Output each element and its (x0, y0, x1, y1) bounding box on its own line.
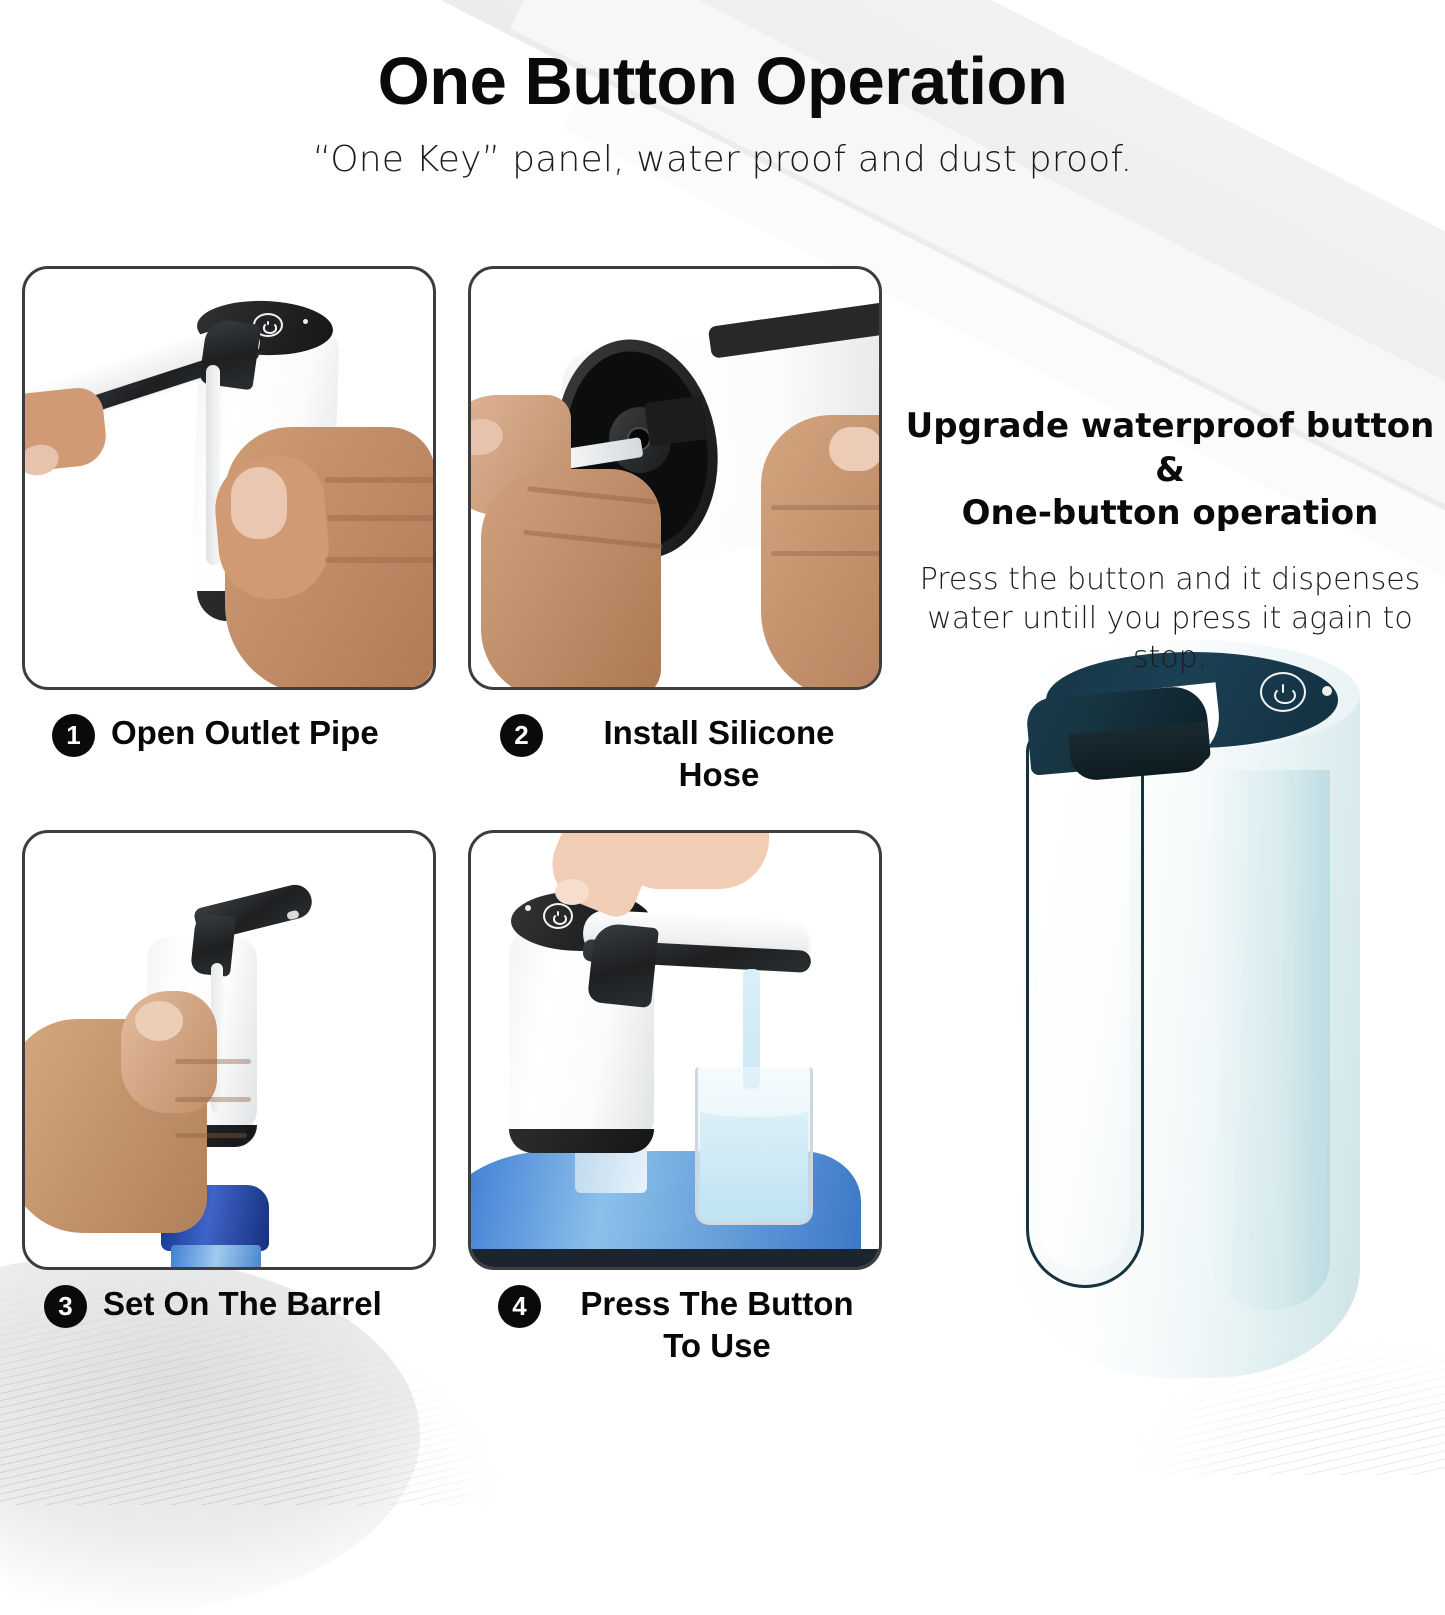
spout-nozzle-highlight (286, 910, 300, 921)
led-indicator (525, 905, 531, 911)
feature-callout: Upgrade waterproof button & One-button o… (900, 405, 1440, 677)
step-caption-2: 2 Install Silicone Hose (500, 712, 900, 796)
hero-body-gloss (1210, 770, 1330, 1310)
knuckle-line-2 (327, 515, 436, 521)
step-badge-4: 4 (498, 1285, 541, 1328)
pressing-hand (619, 830, 769, 889)
led-indicator (303, 319, 308, 324)
right-index-nail (829, 427, 882, 471)
glass-water-surface (700, 1103, 808, 1117)
step-badge-3: 3 (44, 1285, 87, 1328)
step-caption-4: 4 Press The Button To Use (498, 1283, 898, 1367)
finger-line-3 (175, 1133, 247, 1138)
led-indicator (1322, 686, 1332, 696)
finger-line-2 (175, 1097, 251, 1102)
feature-body: Press the button and it dispenses water … (900, 560, 1440, 677)
step-label-2: Install Silicone Hose (559, 712, 879, 796)
finger-line-1 (175, 1059, 251, 1064)
knuckle-line-1 (325, 477, 436, 483)
feature-title-line-2: One-button operation (900, 492, 1440, 536)
step-image-panel-2 (468, 266, 882, 690)
step-badge-2: 2 (500, 714, 543, 757)
page-subtitle: “One Key” panel, water proof and dust pr… (0, 115, 1445, 180)
step-label-4: Press The Button To Use (557, 1283, 877, 1367)
hose-port-key (644, 395, 708, 447)
hero-product-image (960, 620, 1420, 1400)
step-image-panel-1 (22, 266, 436, 690)
illustration-install-silicone-hose (471, 269, 879, 687)
page-title: One Button Operation (0, 0, 1445, 115)
step-image-panel-3 (22, 830, 436, 1270)
illustration-press-the-button-to-use (471, 833, 879, 1267)
knuckle-line-3 (325, 557, 436, 563)
pump-base-ring (509, 1129, 654, 1153)
header: One Button Operation “One Key” panel, wa… (0, 0, 1445, 180)
right-hand-crease-2 (771, 551, 882, 556)
thumb-nail (135, 1001, 183, 1041)
step-badge-1: 1 (52, 714, 95, 757)
hero-spout-arm-face (1038, 716, 1130, 1271)
feature-title: Upgrade waterproof button & One-button o… (900, 405, 1440, 536)
illustration-open-outlet-pipe (25, 269, 433, 687)
counter-surface (468, 1249, 882, 1270)
right-hand-crease-1 (771, 505, 882, 510)
finger-tip (555, 879, 589, 905)
illustration-set-on-the-barrel (25, 833, 433, 1267)
barrel-neck (171, 1245, 261, 1270)
power-icon (1260, 672, 1306, 712)
step-caption-1: 1 Open Outlet Pipe (52, 712, 452, 757)
step-caption-3: 3 Set On The Barrel (44, 1283, 444, 1328)
step-label-3: Set On The Barrel (103, 1283, 382, 1325)
spout-hinge (587, 922, 659, 1008)
step-image-panel-4 (468, 830, 882, 1270)
step-label-1: Open Outlet Pipe (111, 712, 379, 754)
power-icon (543, 903, 573, 929)
feature-title-line-1: Upgrade waterproof button & (900, 405, 1440, 492)
right-thumb-nail (231, 467, 287, 539)
glass-water (700, 1109, 808, 1221)
